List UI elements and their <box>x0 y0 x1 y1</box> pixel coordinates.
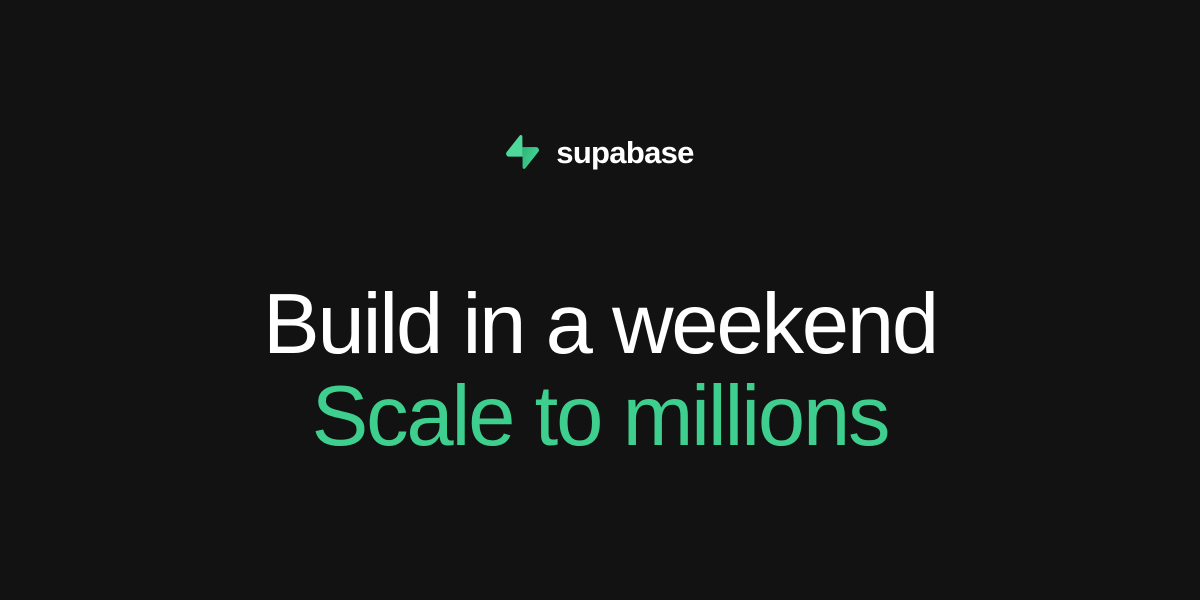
page-title: Build in a weekend Scale to millions <box>0 279 1200 463</box>
brand-wordmark: supabase <box>556 137 693 168</box>
headline-line-accent: Scale to millions <box>0 371 1200 463</box>
brand-lockup[interactable]: supabase <box>0 126 1200 178</box>
supabase-lightning-bolt-icon <box>506 130 539 174</box>
hero-section: supabase Build in a weekend Scale to mil… <box>0 0 1200 600</box>
headline-line-primary: Build in a weekend <box>0 279 1200 371</box>
